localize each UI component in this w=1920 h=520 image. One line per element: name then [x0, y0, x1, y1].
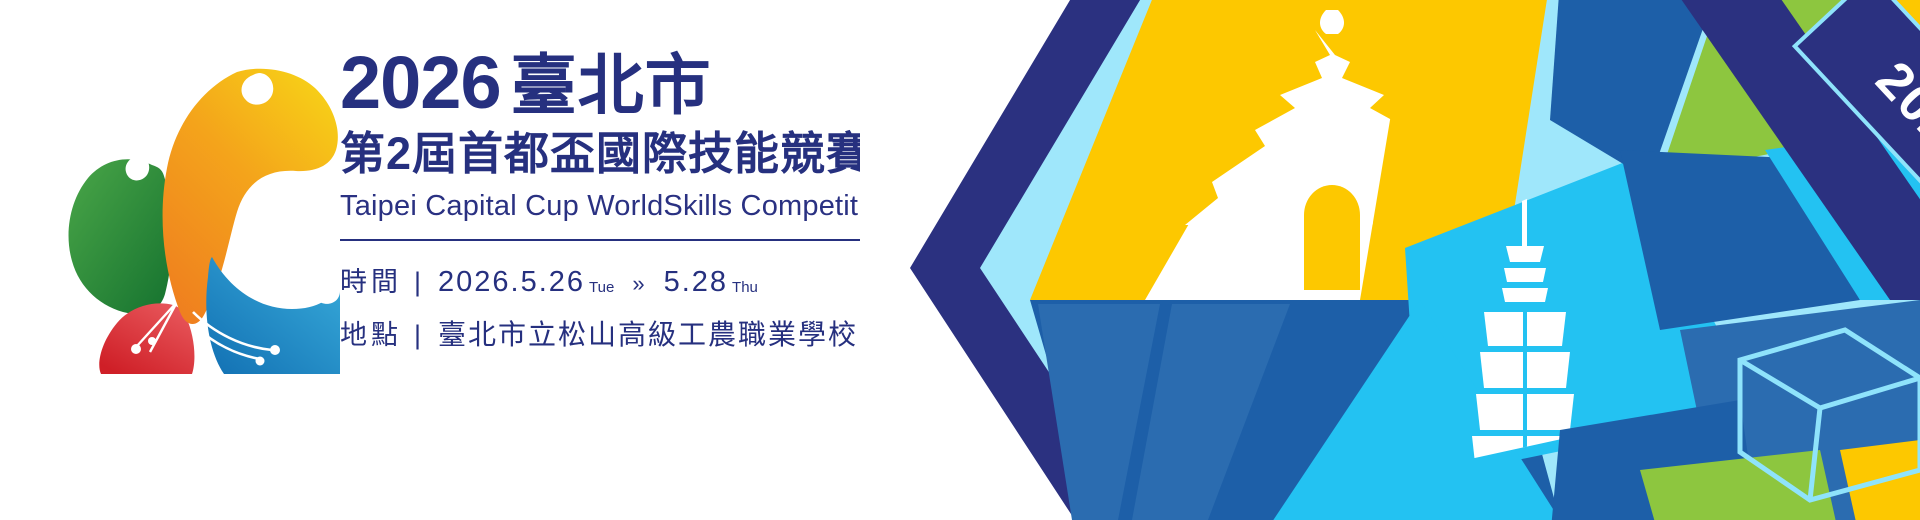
venue-line: 地點 | 臺北市立松山高級工農職業學校: [340, 313, 900, 353]
date-end-dow: Thu: [732, 279, 758, 296]
date-end: 5.28: [664, 266, 728, 299]
headline-year-city: 2026 臺北市: [340, 46, 900, 120]
venue-value: 臺北市立松山高級工農職業學校: [438, 313, 858, 353]
date-range-arrow-icon: »: [632, 271, 645, 297]
emblem-red-leaf: [99, 302, 194, 374]
divider-rule: [340, 239, 868, 241]
headline-title-en: Taipei Capital Cup WorldSkills Competiti…: [340, 190, 900, 223]
event-banner: 2026 臺北市 第2屆首都盃國際技能競賽 Taipei Capital Cup…: [0, 0, 1920, 520]
headline-city: 臺北市: [511, 52, 712, 118]
venue-label: 地點: [340, 313, 402, 352]
headline-title-zh: 第2屆首都盃國際技能競賽: [340, 130, 900, 177]
headline-block: 2026 臺北市 第2屆首都盃國際技能競賽 Taipei Capital Cup…: [340, 46, 900, 353]
date-label: 時間: [340, 260, 402, 299]
headline-year: 2026: [340, 46, 501, 120]
date-value: 2026.5.26 Tue » 5.28 Thu: [438, 266, 758, 299]
date-separator: |: [414, 267, 422, 298]
date-start: 2026.5.26: [438, 266, 585, 299]
emblem-orange-swirl: [163, 69, 338, 324]
date-start-dow: Tue: [589, 279, 614, 296]
emblem-green-leaf: [69, 156, 173, 315]
emblem-blue-wave: [193, 257, 340, 374]
venue-separator: |: [414, 320, 422, 351]
taipei-capital-cup-emblem: [34, 62, 340, 374]
date-line: 時間 | 2026.5.26 Tue » 5.28 Thu: [340, 260, 900, 299]
taipei-geometric-graphic: 2026 TAIPEI: [860, 0, 1920, 520]
